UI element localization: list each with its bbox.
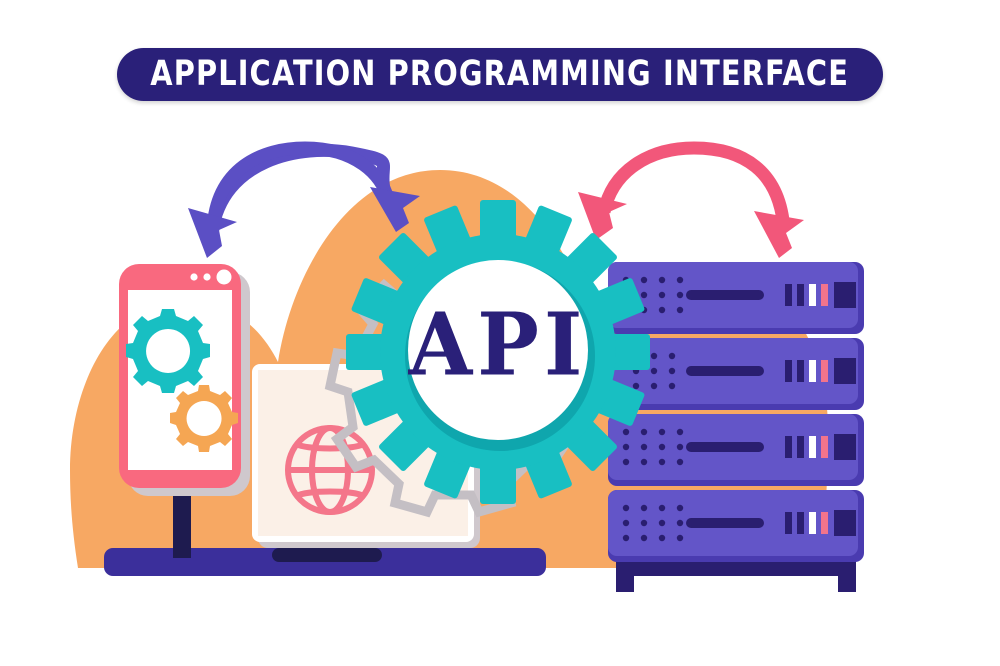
page-title: APPLICATION PROGRAMMING INTERFACE [151,57,850,92]
api-disc [408,260,588,440]
illustration-canvas: API APPLICATION PROGRAMMING INTERFACE [0,0,1000,666]
page-title-banner: APPLICATION PROGRAMMING INTERFACE [117,48,883,101]
